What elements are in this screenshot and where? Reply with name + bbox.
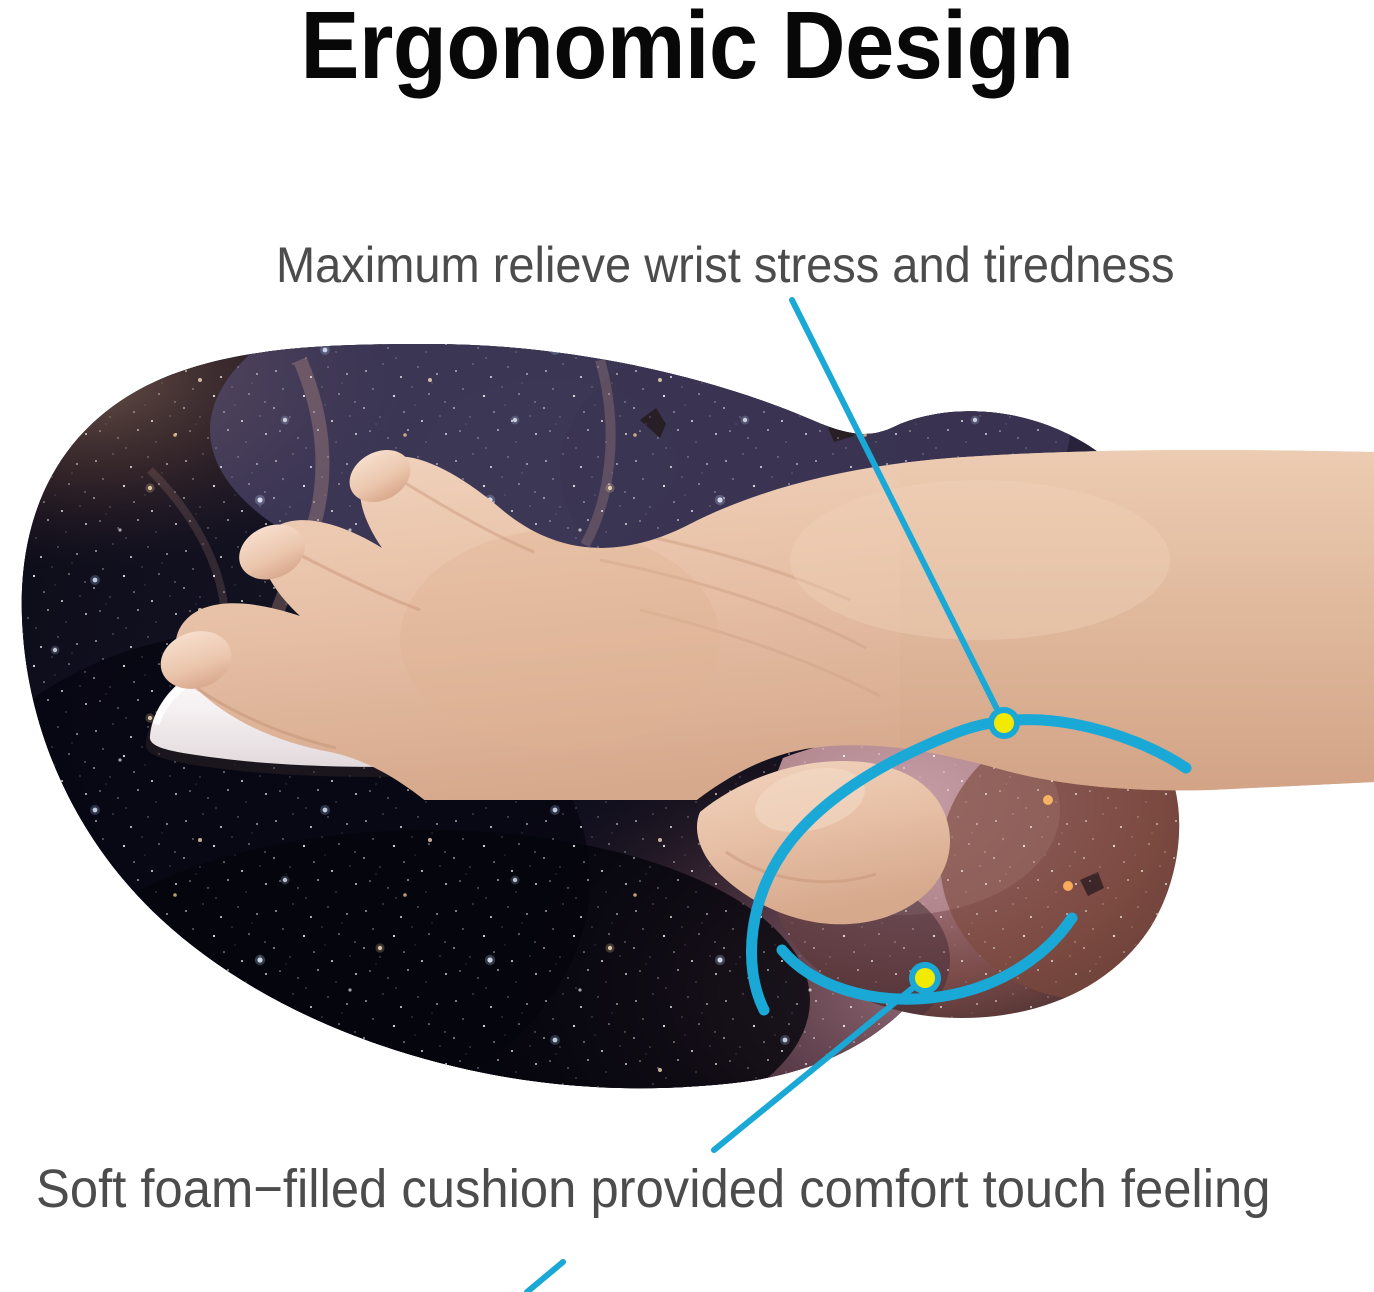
hand-and-forearm	[153, 440, 1374, 924]
page-title: Ergonomic Design	[55, 0, 1319, 94]
mousepad-body	[0, 250, 1300, 1170]
product-illustration	[0, 0, 1374, 1292]
callout-caption-cushion: Soft foam−filled cushion provided comfor…	[36, 1160, 1270, 1218]
white-wireless-mouse	[146, 634, 598, 777]
callout-annotations	[527, 300, 1186, 1292]
bottom-leader-line	[714, 978, 925, 1150]
callout-caption-wrist: Maximum relieve wrist stress and tiredne…	[276, 238, 1174, 292]
top-leader-line	[792, 300, 1004, 723]
wrist-contour-line	[751, 720, 1186, 1010]
wrist-rest-cushion	[690, 700, 1240, 1050]
bottom-edge-line-fragment	[527, 1262, 563, 1292]
callout-dot-wrist	[988, 707, 1020, 739]
callout-dot-cushion	[909, 962, 941, 994]
infographic-canvas: Ergonomic Design Maximum relieve wrist s…	[0, 0, 1374, 1292]
cushion-contour-line	[782, 918, 1072, 999]
